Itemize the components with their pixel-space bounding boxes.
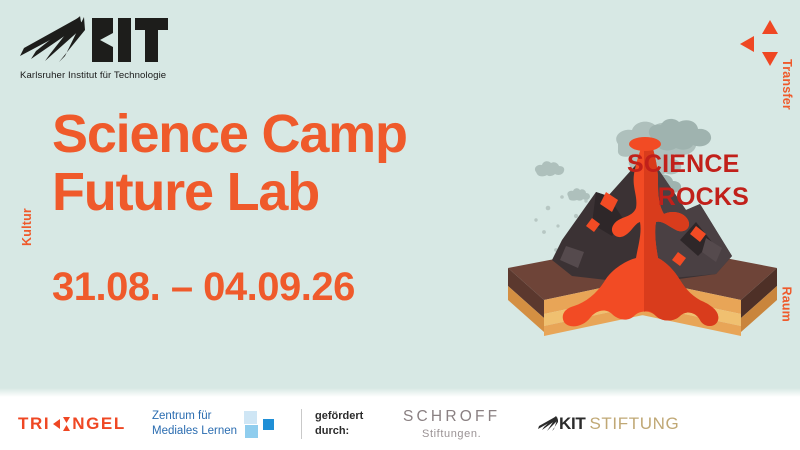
triangel-suffix: NGEL xyxy=(72,414,126,434)
zml-line-2: Mediales Lernen xyxy=(152,425,237,437)
title-line-1: Science Camp xyxy=(52,104,407,164)
funding-label: gefördert durch: xyxy=(315,397,363,450)
footer-fade xyxy=(0,388,800,397)
triangel-prefix: TRI xyxy=(18,414,50,434)
funding-line-2: durch: xyxy=(315,425,349,437)
logo-zml[interactable]: Zentrum für Mediales Lernen xyxy=(152,397,278,450)
triangle-chevrons-icon xyxy=(734,14,782,72)
logo-triangel[interactable]: TRI NGEL xyxy=(18,397,126,450)
schroff-wordmark: SCHROFF xyxy=(403,408,500,426)
logo-schroff[interactable]: SCHROFF Stiftungen. xyxy=(403,397,500,450)
zml-text: Zentrum für Mediales Lernen xyxy=(152,409,237,438)
event-date: 31.08. – 04.09.26 xyxy=(52,265,355,310)
kit-logo-tagline: Karlsruher Institut für Technologie xyxy=(20,70,166,81)
title-line-2: Future Lab xyxy=(52,164,482,222)
funding-line-1: gefördert xyxy=(315,410,363,422)
caption-science: SCIENCE xyxy=(627,148,749,181)
funding-text: gefördert durch: xyxy=(315,409,363,438)
zml-line-1: Zentrum für xyxy=(152,410,211,422)
kit-stiftung-kit: KIT xyxy=(559,414,585,434)
footer-divider xyxy=(301,409,302,439)
page-title: Science Camp Future Lab xyxy=(52,106,482,222)
logo-kit-stiftung[interactable]: KIT STIFTUNG xyxy=(538,397,679,450)
poster-canvas: Karlsruher Institut für Technologie Kult… xyxy=(0,0,800,450)
volcano-illustration xyxy=(500,100,785,340)
caption-rocks: ROCKS xyxy=(627,181,749,214)
footer-logo-bar: TRI NGEL Zentrum für Mediales Lerne xyxy=(0,397,800,450)
kit-logo-mark xyxy=(18,16,168,64)
kit-logo: Karlsruher Institut für Technologie xyxy=(18,16,198,86)
edge-label-kultur: Kultur xyxy=(20,208,34,246)
triangel-wordmark: TRI NGEL xyxy=(18,414,126,434)
kit-stiftung-word: STIFTUNG xyxy=(589,414,679,434)
kit-stiftung-mark-icon xyxy=(538,416,558,432)
schroff-subtitle: Stiftungen. xyxy=(403,428,500,440)
illustration-caption: SCIENCE ROCKS xyxy=(627,148,749,214)
zml-squares-icon xyxy=(244,409,278,439)
triangle-arrows-icon xyxy=(51,415,71,433)
